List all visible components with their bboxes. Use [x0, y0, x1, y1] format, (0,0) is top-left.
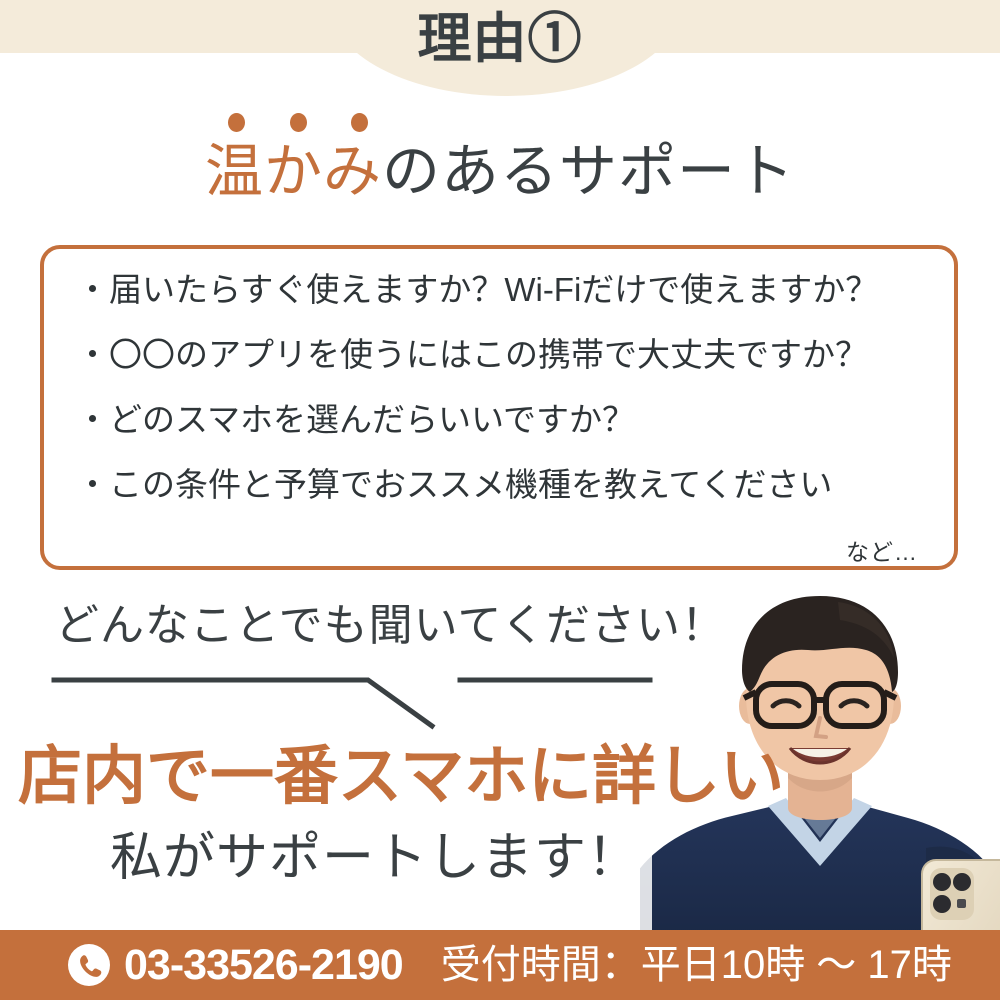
callout-headline-main: 店内で一番スマホに詳しい — [18, 744, 784, 808]
speech-bubble-underline-icon — [50, 668, 680, 730]
emphasis-dot — [228, 113, 245, 132]
emphasis-dot — [351, 113, 368, 132]
question-box: ・届いたらすぐ使えますか？Wi-Fiだけで使えますか？ ・〇〇のアプリを使うには… — [40, 245, 958, 570]
callout-headline-sub: 私がサポートします！ — [110, 832, 640, 884]
list-item: ・〇〇のアプリを使うにはこの携帯で大丈夫ですか？ — [76, 338, 928, 371]
emphasis-dots — [228, 113, 368, 131]
header-badge-label: 理由① — [0, 12, 1000, 66]
list-item: ・届いたらすぐ使えますか？Wi-Fiだけで使えますか？ — [76, 273, 928, 306]
callout-subline: どんなことでも聞いてください！ — [55, 604, 726, 648]
page-title: 温かみのあるサポート — [0, 140, 1000, 205]
page-title-accent: 温かみ — [205, 139, 382, 204]
contact-footer: 03-33526-2190 受付時間：平日10時 〜 17時 — [0, 930, 1000, 1000]
etcetera-label: など… — [76, 533, 928, 567]
emphasis-dot — [290, 113, 307, 132]
list-item: ・この条件と予算でおススメ機種を教えてください — [76, 468, 928, 501]
list-item: ・どのスマホを選んだらいいですか？ — [76, 403, 928, 436]
page-title-rest: のあるサポート — [382, 139, 795, 204]
phone-icon — [68, 944, 110, 986]
business-hours: 受付時間：平日10時 〜 17時 — [441, 945, 952, 985]
promo-graphic: 理由① 温かみのあるサポート ・届いたらすぐ使えますか？Wi-Fiだけで使えます… — [0, 0, 1000, 1000]
phone-number[interactable]: 03-33526-2190 — [124, 944, 403, 987]
